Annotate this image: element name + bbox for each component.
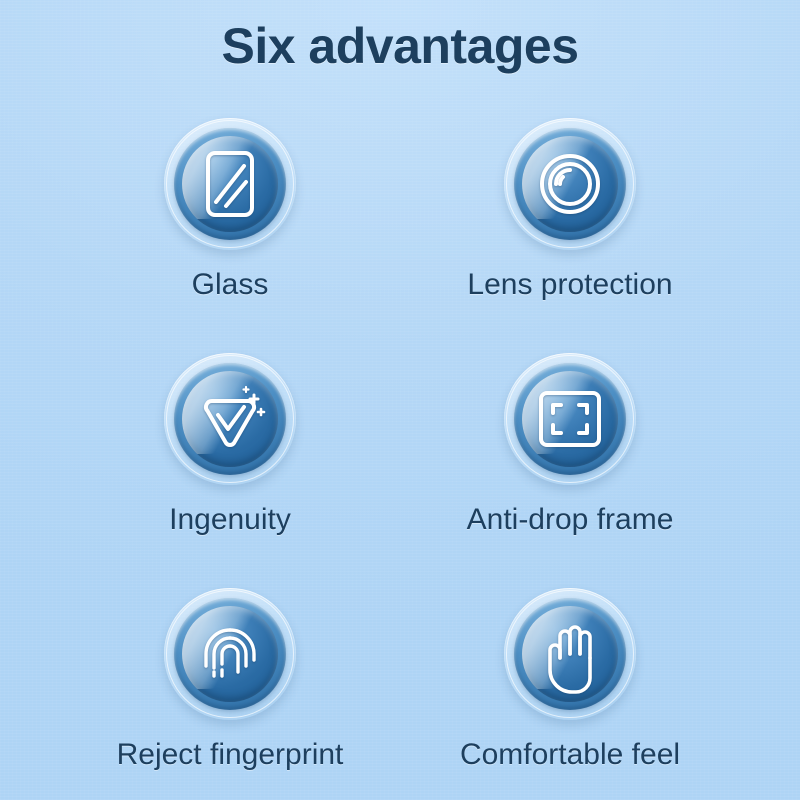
feature-badge bbox=[164, 118, 296, 250]
fingerprint-icon bbox=[182, 606, 278, 702]
feature-label: Comfortable feel bbox=[460, 738, 680, 773]
feature-label: Lens protection bbox=[467, 268, 672, 303]
feature-label: Ingenuity bbox=[169, 503, 291, 538]
feature-badge bbox=[164, 588, 296, 720]
feature-label: Anti-drop frame bbox=[467, 503, 674, 538]
feature-item-ingenuity[interactable]: Ingenuity bbox=[60, 353, 400, 588]
feature-label: Glass bbox=[192, 268, 269, 303]
feature-item-glass[interactable]: Glass bbox=[60, 118, 400, 353]
feature-item-anti-drop-frame[interactable]: Anti-drop frame bbox=[400, 353, 740, 588]
feature-badge bbox=[504, 353, 636, 485]
corner-frame-icon bbox=[522, 371, 618, 467]
feature-badge bbox=[164, 353, 296, 485]
feature-badge bbox=[504, 588, 636, 720]
page-title: Six advantages bbox=[0, 16, 800, 76]
features-grid: Glass Lens prote bbox=[60, 118, 740, 800]
six-advantages-poster: Six advantages Glass bbox=[0, 0, 800, 800]
open-hand-icon bbox=[522, 606, 618, 702]
feature-badge bbox=[504, 118, 636, 250]
camera-lens-icon bbox=[522, 136, 618, 232]
glass-screen-icon bbox=[182, 136, 278, 232]
feature-item-comfortable-feel[interactable]: Comfortable feel bbox=[400, 588, 740, 800]
feature-item-lens-protection[interactable]: Lens protection bbox=[400, 118, 740, 353]
feature-label: Reject fingerprint bbox=[117, 738, 344, 773]
feature-item-reject-fingerprint[interactable]: Reject fingerprint bbox=[60, 588, 400, 800]
diamond-check-icon bbox=[182, 371, 278, 467]
